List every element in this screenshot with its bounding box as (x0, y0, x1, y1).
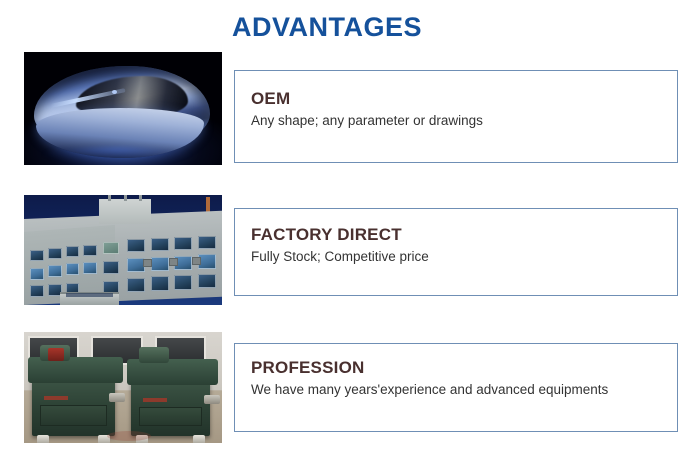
lens-specular-dot (112, 90, 117, 94)
workshop-machinery-photo (24, 332, 222, 443)
advantage-thumbnail-factory[interactable] (24, 195, 222, 305)
factory-building-photo (24, 195, 222, 305)
advantage-title: OEM (251, 89, 290, 109)
building-sign (66, 293, 114, 297)
machine-red-cover (48, 348, 64, 361)
advantage-row: PROFESSION We have many years'experience… (0, 332, 700, 445)
advantage-card-oem[interactable]: OEM Any shape; any parameter or drawings (234, 70, 678, 163)
advantage-row: FACTORY DIRECT Fully Stock; Competitive … (0, 195, 700, 307)
advantage-thumbnail-profession[interactable] (24, 332, 222, 443)
advantage-row: OEM Any shape; any parameter or drawings (0, 52, 700, 167)
advantages-page: ADVANTAGES OEM Any shape; any parameter … (0, 0, 700, 450)
machine-cabinet-door (40, 405, 107, 427)
page-title: ADVANTAGES (232, 11, 422, 43)
machine-spindle (109, 393, 125, 402)
floor-stain (107, 431, 151, 441)
advantage-card-factory-direct[interactable]: FACTORY DIRECT Fully Stock; Competitive … (234, 208, 678, 296)
advantage-description: Any shape; any parameter or drawings (251, 113, 483, 128)
advantage-thumbnail-oem[interactable] (24, 52, 222, 165)
advantage-description: Fully Stock; Competitive price (251, 249, 429, 264)
machine-cabinet-door (139, 407, 202, 427)
air-conditioner-unit (169, 258, 178, 266)
advantage-title: PROFESSION (251, 358, 364, 378)
advantage-description: We have many years'experience and advanc… (251, 382, 608, 397)
machine-spindle (204, 395, 220, 404)
lens-reflection (42, 147, 192, 163)
lathe-machine (32, 379, 115, 437)
lathe-machine (131, 381, 210, 437)
machine-head (139, 347, 169, 363)
advantage-card-profession[interactable]: PROFESSION We have many years'experience… (234, 343, 678, 432)
window-grid (24, 195, 222, 305)
machine-caster (37, 435, 49, 443)
air-conditioner-unit (192, 257, 201, 265)
air-conditioner-unit (143, 259, 152, 267)
machine-brand-label (143, 398, 167, 402)
machine-caster (193, 435, 205, 443)
advantage-title: FACTORY DIRECT (251, 225, 402, 245)
lens-photo (24, 52, 222, 165)
machine-brand-label (44, 396, 68, 400)
